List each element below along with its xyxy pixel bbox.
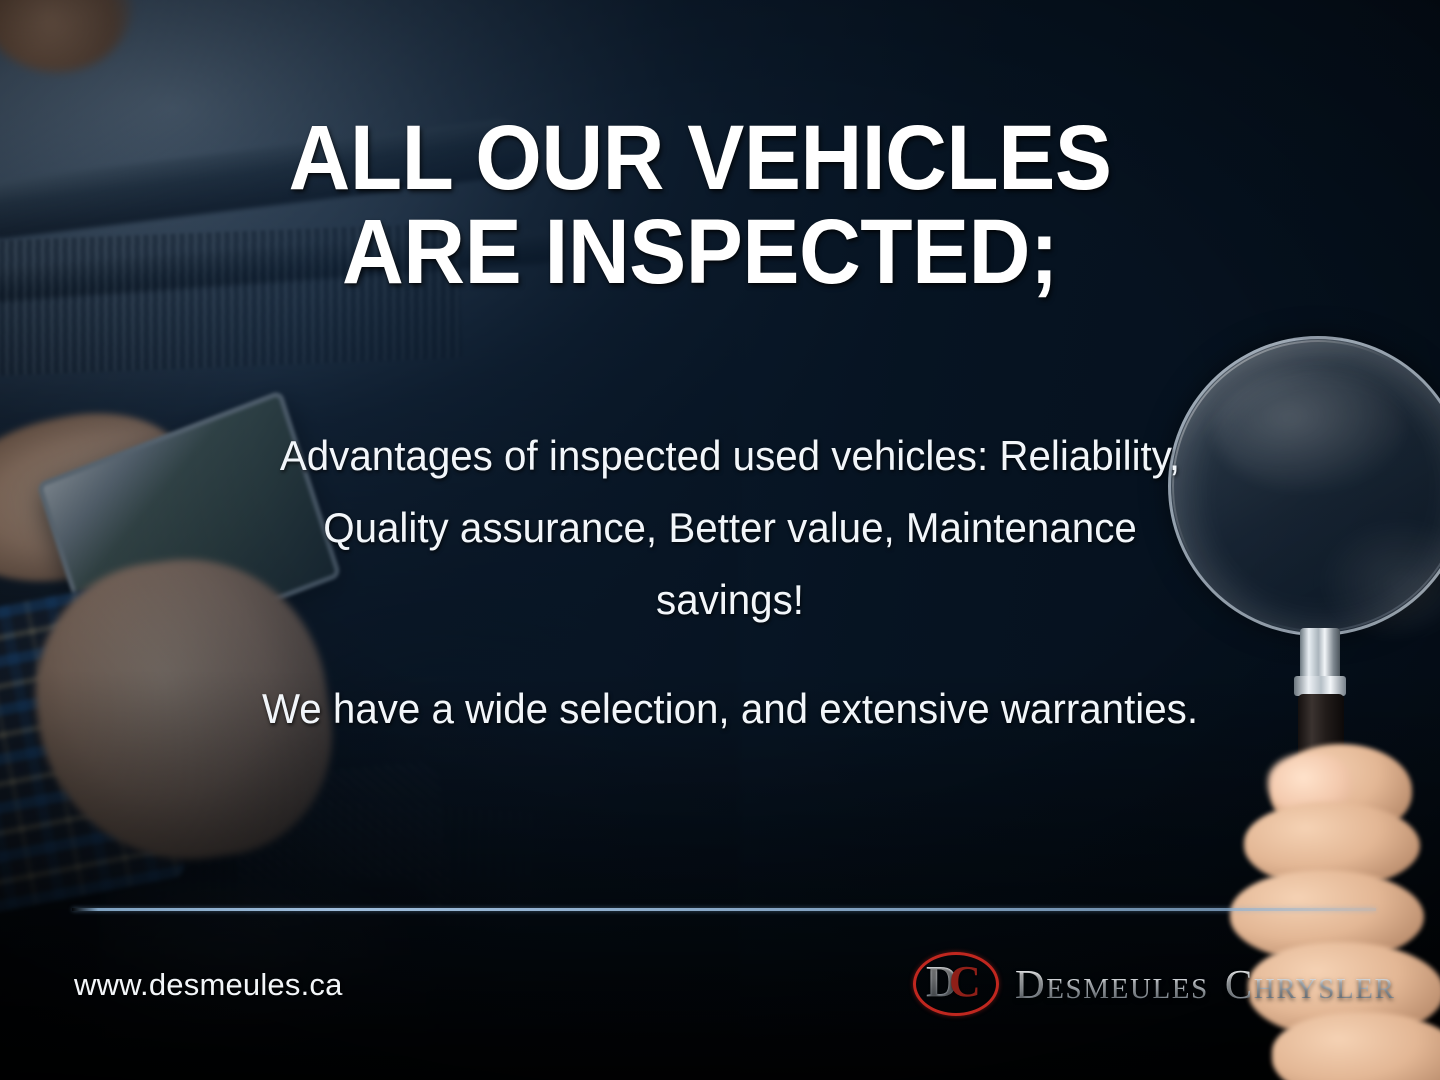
desmeules-chrysler-logo[interactable]: D C DesmeulesChrysler [913, 952, 1396, 1016]
footer-divider [72, 908, 1376, 911]
headline: ALL OUR VEHICLES ARE INSPECTED; [235, 112, 1165, 300]
logo-wordmark: DesmeulesChrysler [1015, 964, 1396, 1005]
body-paragraph-2: We have a wide selection, and extensive … [250, 673, 1210, 745]
logo-letter-c: C [949, 960, 981, 1004]
logo-word-chrysler: Chrysler [1225, 961, 1396, 1007]
logo-word-desmeules: Desmeules [1015, 961, 1209, 1007]
dc-monogram-icon: D C [913, 952, 999, 1016]
slide-content: ALL OUR VEHICLES ARE INSPECTED; Advantag… [0, 0, 1440, 1080]
website-url[interactable]: www.desmeules.ca [74, 967, 343, 1003]
body-copy: Advantages of inspected used vehicles: R… [250, 420, 1210, 745]
headline-line-1: ALL OUR VEHICLES [289, 107, 1112, 209]
body-paragraph-1: Advantages of inspected used vehicles: R… [250, 420, 1210, 637]
promo-slide: ALL OUR VEHICLES ARE INSPECTED; Advantag… [0, 0, 1440, 1080]
headline-line-2: ARE INSPECTED; [235, 206, 1165, 300]
